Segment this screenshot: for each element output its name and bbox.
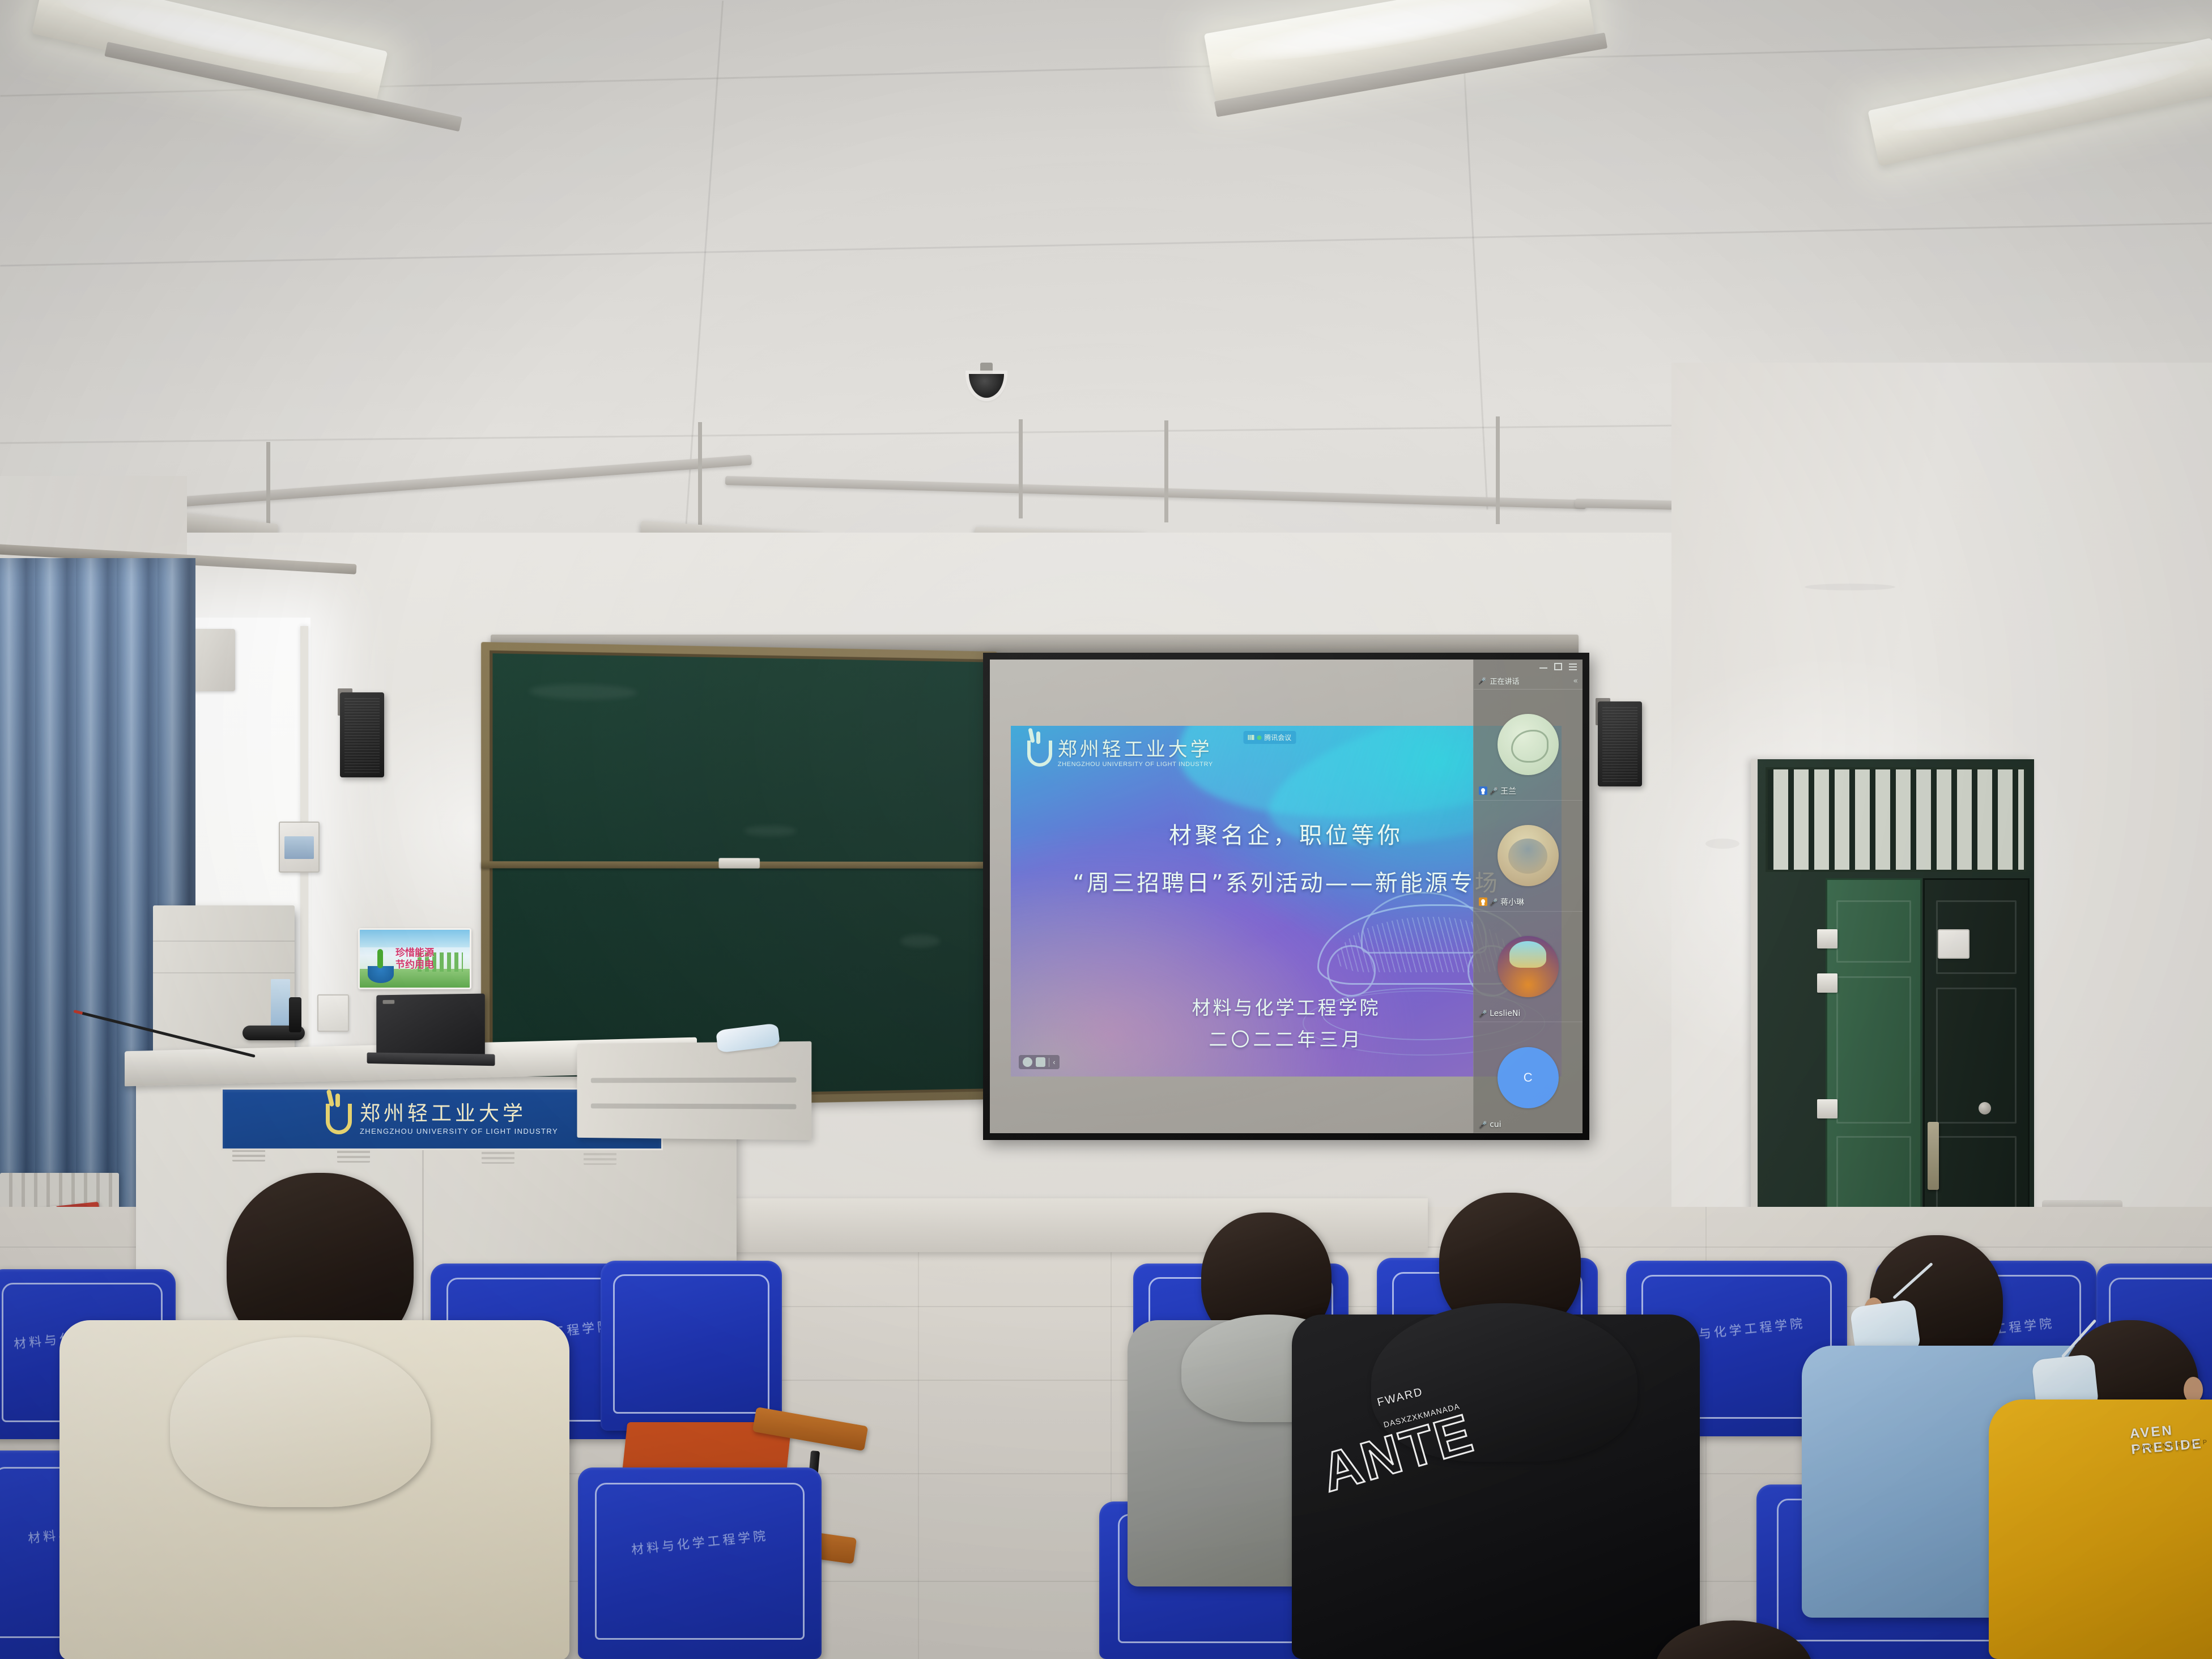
slide-logo-cn: 郑州轻工业大学 (1058, 740, 1213, 759)
ceiling-pendant (698, 422, 702, 527)
ceiling-pendant (266, 442, 270, 533)
ceiling-pendant (1164, 420, 1168, 522)
wall-speaker-right (1598, 701, 1642, 786)
door-hinge (1817, 973, 1837, 993)
participant-tile[interactable]: 🎤 蒋小琳 (1474, 801, 1583, 912)
door-knob[interactable] (1979, 1102, 1991, 1114)
ceiling-pendant (1496, 416, 1500, 524)
mic-muted-icon: 🎤 (1490, 898, 1498, 906)
participant-name-row: 🎤 LeslieNi (1479, 1009, 1520, 1018)
participant-name: 王兰 (1500, 785, 1516, 797)
university-mark-icon (326, 1104, 352, 1134)
participant-name-row: 🎤 王兰 (1479, 785, 1516, 797)
pen-icon[interactable] (1023, 1057, 1032, 1067)
light-switch-wall[interactable] (1938, 929, 1969, 959)
hood (170, 1337, 431, 1507)
poster-line-2: 节约用电 (360, 959, 470, 971)
avatar (1498, 825, 1559, 886)
laptop[interactable] (376, 994, 485, 1057)
poster-line-1: 珍惜能源 (360, 947, 470, 959)
speaker-icon[interactable]: « (1573, 677, 1578, 686)
door-handle[interactable] (1928, 1122, 1939, 1190)
mic-muted-icon: 🎤 (1479, 1010, 1487, 1018)
participant-tile[interactable]: C 🎤 cui (1474, 1022, 1583, 1133)
participant-name: LeslieNi (1490, 1009, 1520, 1018)
ceiling-pendant (1019, 419, 1023, 518)
minimize-icon[interactable] (1539, 663, 1547, 670)
breaker-box[interactable] (279, 822, 320, 873)
seat-front-left-2[interactable]: 材料与化学工程学院 (578, 1467, 822, 1659)
meeting-status-pill: 腾讯会议 (1243, 731, 1296, 744)
lectern-plate-en: ZHENGZHOU UNIVERSITY OF LIGHT INDUSTRY (360, 1128, 558, 1135)
light-switch-podium[interactable] (317, 994, 349, 1032)
jacket-brand-text: AVEN PRESIDE (2129, 1420, 2204, 1458)
lectern-plate-cn: 郑州轻工业大学 (360, 1103, 558, 1125)
meeting-panel-header: 🎤 正在讲话 « (1474, 673, 1583, 690)
slide-university-logo: 郑州轻工业大学 ZHENGZHOU UNIVERSITY OF LIGHT IN… (1027, 740, 1213, 768)
participant-list: 🎤 王兰 🎤 蒋小琳 (1474, 690, 1583, 1133)
signal-bars-icon (1248, 735, 1254, 740)
dome-camera-icon (969, 363, 1004, 402)
presentation-toolbar[interactable]: ‹ (1019, 1055, 1059, 1069)
slide-logo-en: ZHENGZHOU UNIVERSITY OF LIGHT INDUSTRY (1058, 762, 1213, 768)
seat-left-back-3[interactable] (601, 1261, 782, 1431)
door-hinge (1817, 1099, 1837, 1118)
mic-muted-icon: 🎤 (1479, 1121, 1487, 1129)
meeting-participant-panel: 🎤 正在讲话 « 🎤 王兰 (1473, 660, 1583, 1133)
microphone-icon: 🎤 (1478, 677, 1487, 685)
avatar: C (1498, 1047, 1559, 1108)
mic-muted-icon: 🎤 (1490, 787, 1498, 795)
participant-tile[interactable]: 🎤 王兰 (1474, 690, 1583, 801)
cabinet-sticker (271, 979, 290, 1030)
participant-name: 蒋小琳 (1500, 896, 1524, 908)
avatar-initial: C (1498, 1070, 1559, 1085)
avatar (1498, 714, 1559, 775)
hamburger-menu-icon[interactable] (1569, 663, 1577, 670)
university-mark-icon (1027, 741, 1052, 767)
classroom-scene: 珍惜能源 节约用电 郑州轻工业大学 ZHEN (0, 0, 2212, 1659)
projection-screen: 郑州轻工业大学 ZHENGZHOU UNIVERSITY OF LIGHT IN… (983, 653, 1589, 1140)
host-badge-icon (1479, 897, 1487, 906)
wall-scuff (1705, 839, 1739, 849)
recording-dot-icon (1257, 735, 1261, 740)
wall-scuff (1805, 584, 1895, 590)
maximize-icon[interactable] (1554, 663, 1562, 670)
energy-saving-poster: 珍惜能源 节约用电 (358, 928, 471, 989)
wall-speaker-left (340, 692, 384, 777)
participant-tile[interactable]: 🎤 LeslieNi (1474, 912, 1583, 1023)
participant-name-row: 🎤 蒋小琳 (1479, 896, 1524, 908)
collapse-chevron-icon[interactable]: ‹ (1053, 1058, 1055, 1066)
meeting-header-label: 正在讲话 (1490, 675, 1519, 686)
door-transom-window (1766, 767, 2026, 872)
side-equipment-desk (577, 1041, 811, 1141)
participant-name: cui (1490, 1120, 1501, 1129)
host-badge-icon (1479, 786, 1487, 795)
door-hinge (1817, 929, 1837, 948)
participant-name-row: 🎤 cui (1479, 1120, 1501, 1129)
meeting-window-controls[interactable] (1474, 660, 1583, 673)
meeting-pill-label: 腾讯会议 (1264, 733, 1291, 742)
laser-pointer-icon[interactable] (1036, 1057, 1045, 1067)
microphone-pod (289, 997, 301, 1032)
board-clip (718, 858, 759, 868)
avatar (1498, 936, 1559, 997)
